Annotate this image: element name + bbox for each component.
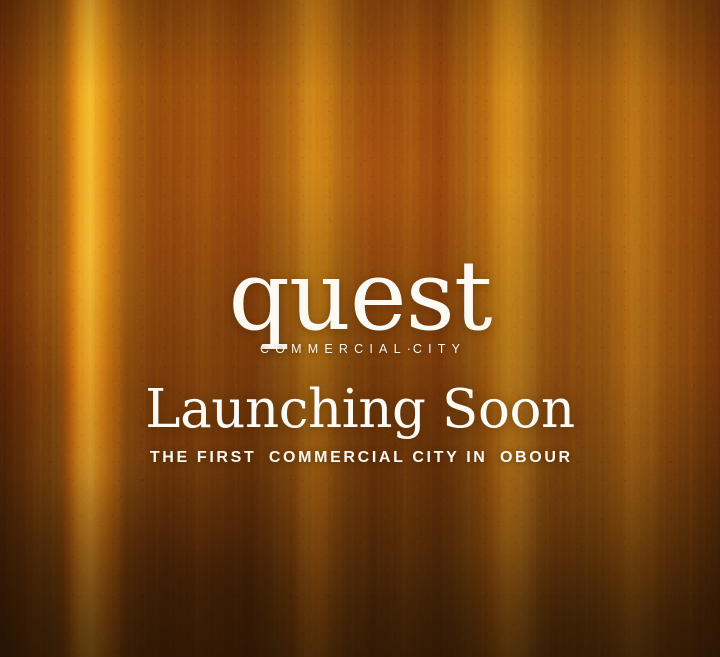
subline-commercial-city-in: COMMERCIAL CITY IN <box>269 449 488 466</box>
subline-gap-1 <box>256 449 268 466</box>
brand-tagline-commercial: COMMERCIAL <box>260 342 407 356</box>
subline-the-first: THE FIRST <box>150 449 257 466</box>
brand-wordmark: quest <box>0 252 720 340</box>
announcement-subline: THE FIRST COMMERCIAL CITY IN OBOUR <box>0 449 720 467</box>
brand-tagline-city: CITY <box>413 342 466 356</box>
poster-content: quest COMMERCIAL·CITY Launching Soon THE… <box>0 0 720 657</box>
announcement-headline: Launching Soon <box>0 382 720 437</box>
brand-tagline: COMMERCIAL·CITY <box>0 342 720 356</box>
brand-lockup: quest COMMERCIAL·CITY <box>0 252 720 356</box>
subline-obour: OBOUR <box>500 449 573 466</box>
launching-soon-poster: quest COMMERCIAL·CITY Launching Soon THE… <box>0 0 720 657</box>
announcement-block: Launching Soon THE FIRST COMMERCIAL CITY… <box>0 382 720 467</box>
subline-gap-2 <box>488 449 500 466</box>
